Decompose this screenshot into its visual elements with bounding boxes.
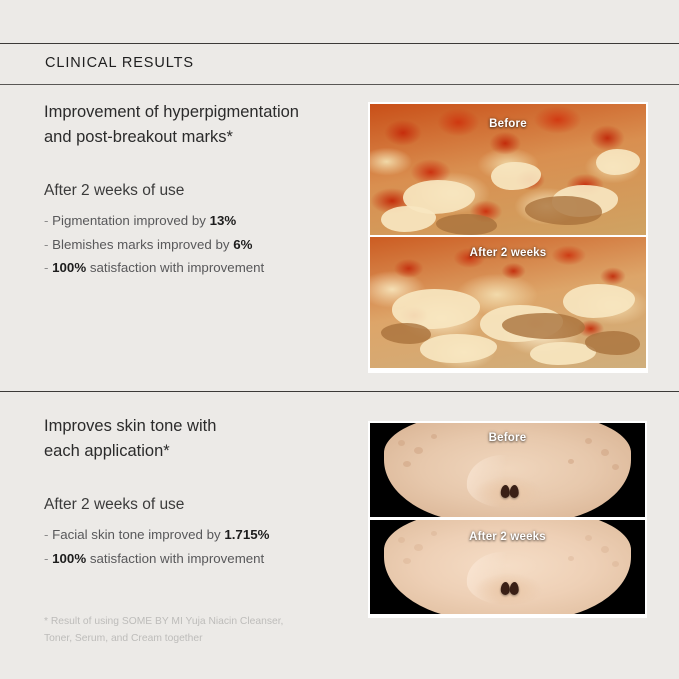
- bullet-dash: -: [44, 260, 48, 275]
- bullet-value: 13%: [210, 213, 237, 228]
- skin-after-pane: After 2 weeks: [370, 237, 646, 368]
- section-2-headline: Improves skin tone with each application…: [44, 414, 269, 464]
- bullet-text-pre: Blemishes marks improved by: [52, 237, 233, 252]
- divider-top: [0, 43, 679, 44]
- bullet-value: 100%: [52, 551, 86, 566]
- bullet-value: 100%: [52, 260, 86, 275]
- face-photo-after: [370, 520, 645, 614]
- section-2-bullet-list: - Facial skin tone improved by 1.715% - …: [44, 523, 269, 570]
- list-item: - Blemishes marks improved by 6%: [44, 233, 299, 257]
- skin-before-pane: Before: [370, 104, 646, 235]
- bullet-value: 6%: [233, 237, 252, 252]
- bullet-dash: -: [44, 237, 48, 252]
- skin-pigmentation-image-after: [370, 237, 646, 368]
- clinical-results-page: CLINICAL RESULTS Improvement of hyperpig…: [0, 0, 679, 679]
- list-item: - Pigmentation improved by 13%: [44, 209, 299, 233]
- section-2-subhead: After 2 weeks of use: [44, 496, 269, 514]
- section-1-subhead: After 2 weeks of use: [44, 182, 299, 200]
- list-item: - 100% satisfaction with improvement: [44, 256, 299, 280]
- list-item: - 100% satisfaction with improvement: [44, 547, 269, 571]
- skin-pigmentation-image-before: [370, 104, 646, 235]
- face-photo-before: [370, 423, 645, 517]
- bullet-text-pre: Facial skin tone improved by: [52, 527, 224, 542]
- bullet-text-pre: Pigmentation improved by: [52, 213, 209, 228]
- divider-between-sections: [0, 391, 679, 392]
- bullet-text-post: satisfaction with improvement: [86, 260, 264, 275]
- skin-analysis-figure: Before After 2 weeks: [368, 102, 648, 373]
- bullet-text-post: satisfaction with improvement: [86, 551, 264, 566]
- face-photo-figure: Before After 2 weeks: [368, 421, 647, 618]
- face-before-pane: Before: [370, 423, 645, 517]
- footnote: * Result of using SOME BY MI Yuja Niacin…: [44, 613, 283, 647]
- bullet-dash: -: [44, 527, 48, 542]
- section-1-bullet-list: - Pigmentation improved by 13% - Blemish…: [44, 209, 299, 280]
- face-after-pane: After 2 weeks: [370, 520, 645, 614]
- bullet-dash: -: [44, 551, 48, 566]
- section-2-text: Improves skin tone with each application…: [44, 414, 269, 570]
- list-item: - Facial skin tone improved by 1.715%: [44, 523, 269, 547]
- section-1-headline: Improvement of hyperpigmentation and pos…: [44, 100, 299, 150]
- divider-under-title: [0, 84, 679, 85]
- bullet-dash: -: [44, 213, 48, 228]
- bullet-value: 1.715%: [224, 527, 269, 542]
- section-1-text: Improvement of hyperpigmentation and pos…: [44, 100, 299, 280]
- page-title: CLINICAL RESULTS: [45, 55, 194, 71]
